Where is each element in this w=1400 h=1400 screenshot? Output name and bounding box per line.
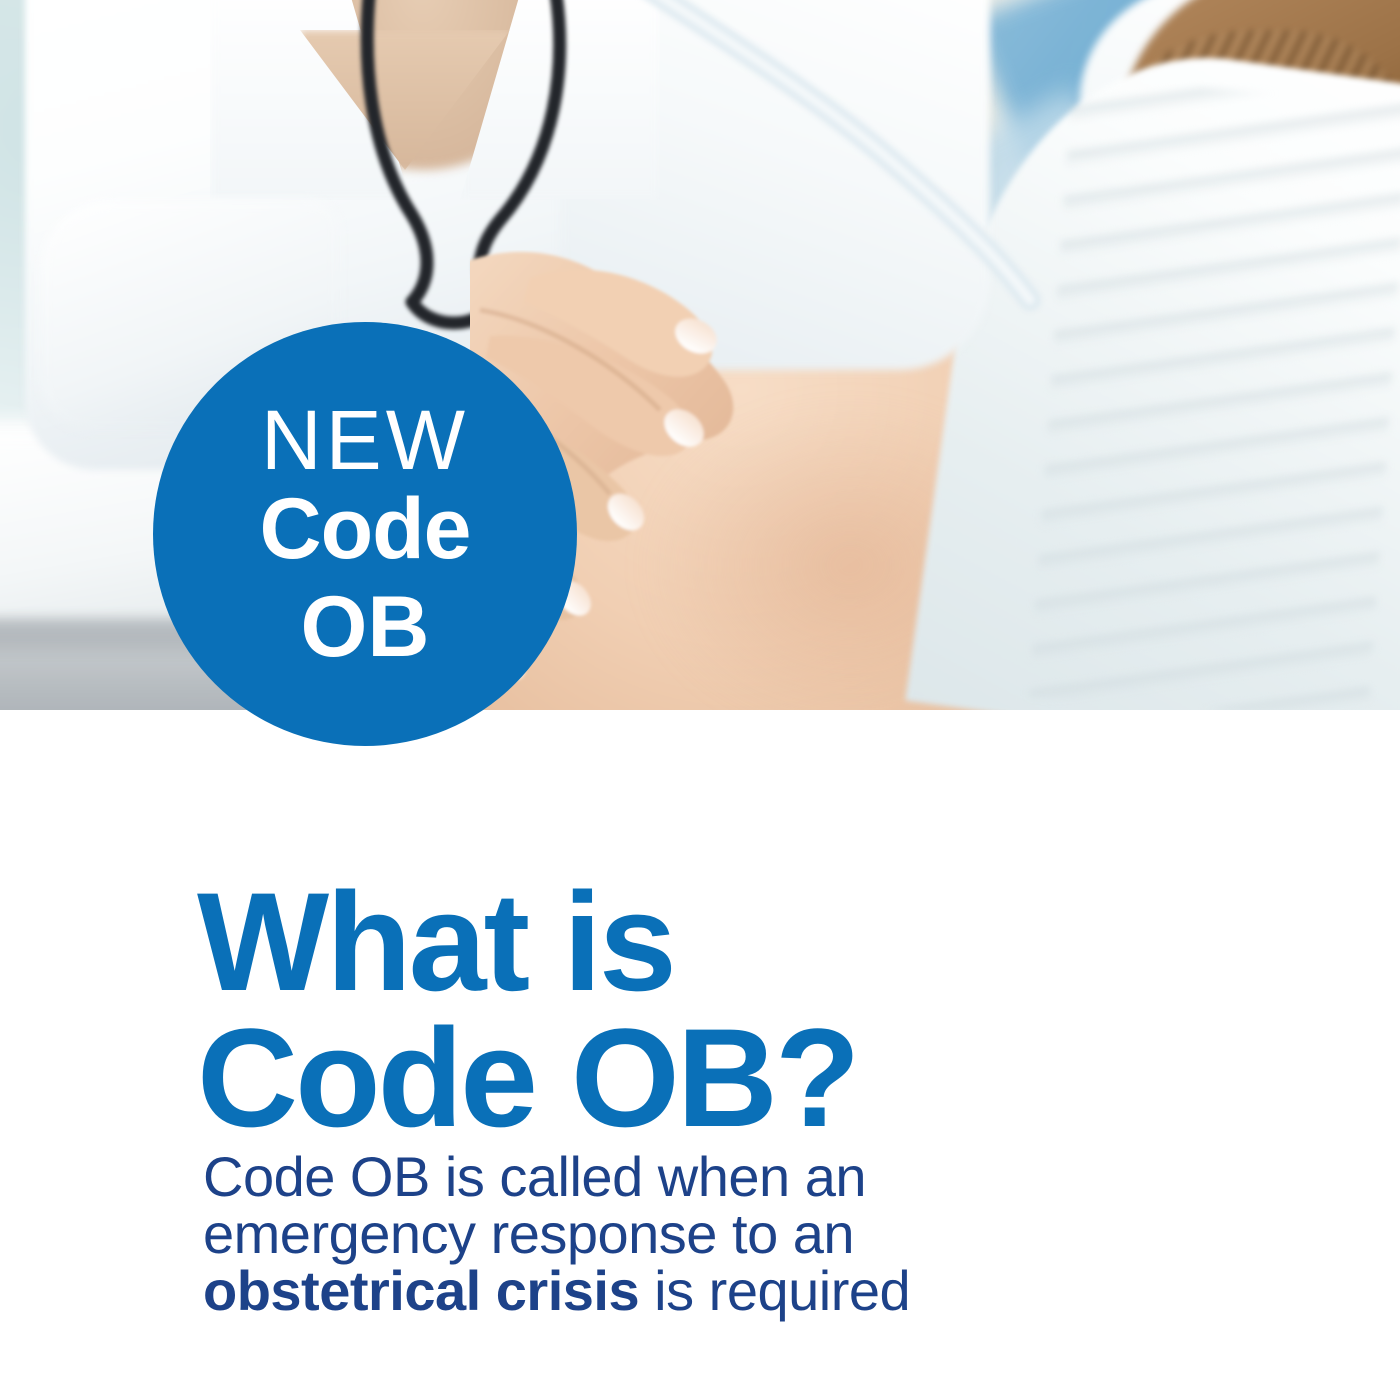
new-code-ob-badge: NEW Code OB xyxy=(153,322,577,746)
description-line-2: emergency response to an xyxy=(203,1205,1163,1262)
description-line-1: Code OB is called when an xyxy=(203,1148,1163,1205)
content-section: What is Code OB? Code OB is called when … xyxy=(0,710,1400,1400)
headline-line-1: What is xyxy=(197,874,1197,1010)
description-line-3-rest: is required xyxy=(639,1259,910,1322)
headline-line-2: Code OB? xyxy=(197,1010,1197,1146)
badge-code-label: Code xyxy=(260,489,471,571)
badge-ob-label: OB xyxy=(301,584,430,670)
description-emphasis: obstetrical crisis xyxy=(203,1259,639,1322)
badge-new-label: NEW xyxy=(261,402,469,479)
description-line-3: obstetrical crisis is required xyxy=(203,1262,1163,1319)
poster: NEW Code OB What is Code OB? Code OB is … xyxy=(0,0,1400,1400)
description-text: Code OB is called when an emergency resp… xyxy=(203,1148,1163,1319)
page-title: What is Code OB? xyxy=(197,874,1197,1146)
